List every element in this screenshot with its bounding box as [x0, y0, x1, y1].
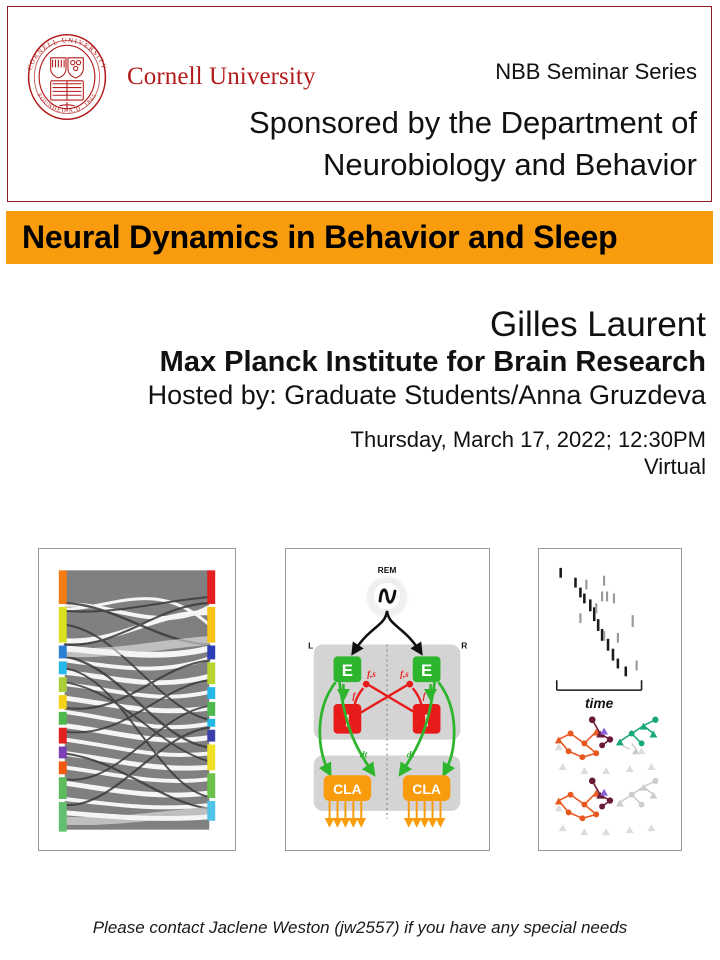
speaker-name: Gilles Laurent	[16, 305, 706, 345]
cla-node-left: CLA	[324, 775, 372, 801]
speaker-affiliation: Max Planck Institute for Brain Research	[16, 345, 706, 379]
svg-text:CLA: CLA	[333, 781, 361, 797]
raster-network-svg: time	[539, 549, 681, 850]
rem-label: REM	[378, 565, 397, 575]
seminar-location: Virtual	[16, 453, 706, 480]
figure-panel-raster: time	[538, 548, 682, 851]
flow-ribbons	[65, 570, 210, 829]
hemisphere-label-left: L	[308, 641, 313, 651]
synapse-label-fs-left: f,s	[367, 669, 376, 679]
seminar-series-label: NBB Seminar Series	[495, 59, 697, 85]
header-box: CORNELL UNIVERSITY FOUNDED A.D. 1865 Cor…	[7, 6, 712, 202]
delay-label-left: dt	[360, 750, 368, 760]
hemisphere-label-right: R	[461, 641, 467, 651]
svg-text:CLA: CLA	[412, 781, 440, 797]
svg-text:E: E	[421, 661, 432, 680]
cla-node-right: CLA	[403, 775, 451, 801]
figure-panel-alluvial	[38, 548, 236, 851]
svg-text:E: E	[342, 661, 353, 680]
talk-title-banner: Neural Dynamics in Behavior and Sleep	[6, 211, 713, 264]
accessibility-contact-note: Please contact Jaclene Weston (jw2557) i…	[0, 918, 720, 938]
alluvial-diagram-svg	[39, 549, 235, 850]
synapse-label-fs-right: f,s	[400, 669, 409, 679]
speaker-info-block: Gilles Laurent Max Planck Institute for …	[16, 305, 706, 480]
figure-panel-circuit: REM L R E E I	[285, 548, 490, 851]
speaker-host: Hosted by: Graduate Students/Anna Gruzde…	[16, 379, 706, 412]
excitatory-node-right: E	[413, 656, 441, 682]
alluvial-right-nodes	[207, 570, 215, 820]
rem-circuit-svg: REM L R E E I	[286, 549, 489, 850]
time-axis-label: time	[585, 696, 614, 711]
synapse-terminal-left	[352, 711, 358, 717]
seminar-datetime: Thursday, March 17, 2022; 12:30PM	[16, 426, 706, 453]
talk-title: Neural Dynamics in Behavior and Sleep	[6, 219, 617, 256]
synapse-dot-right	[406, 681, 413, 688]
alluvial-left-nodes	[59, 570, 67, 831]
cornell-wordmark: Cornell University	[127, 63, 316, 91]
delay-label-right: dt	[407, 750, 415, 760]
excitatory-node-left: E	[334, 656, 362, 682]
sponsor-line-2: Neurobiology and Behavior	[97, 145, 697, 185]
svg-text:CORNELL UNIVERSITY: CORNELL UNIVERSITY	[27, 37, 108, 71]
sponsor-line-1: Sponsored by the Department of	[97, 103, 697, 143]
synapse-terminal-right	[418, 711, 424, 717]
synapse-dot-left	[363, 681, 370, 688]
